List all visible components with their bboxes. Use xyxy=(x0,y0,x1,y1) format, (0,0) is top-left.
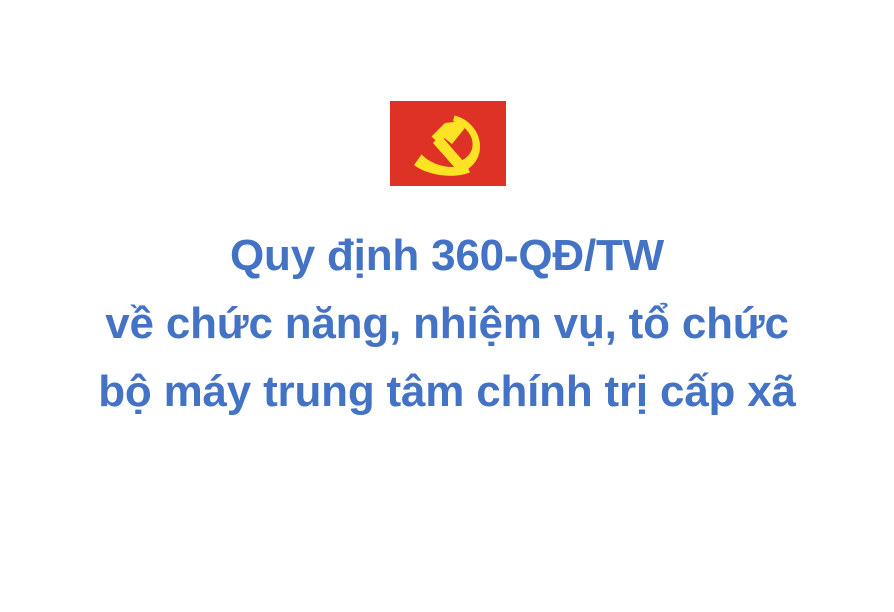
slide-canvas: Quy định 360-QĐ/TW về chức năng, nhiệm v… xyxy=(0,0,894,612)
title-line-2: về chức năng, nhiệm vụ, tổ chức xyxy=(0,290,894,358)
party-flag xyxy=(390,101,506,186)
party-flag-svg xyxy=(390,101,506,186)
title-line-3: bộ máy trung tâm chính trị cấp xã xyxy=(0,358,894,426)
title-block: Quy định 360-QĐ/TW về chức năng, nhiệm v… xyxy=(0,222,894,426)
title-line-1: Quy định 360-QĐ/TW xyxy=(0,222,894,290)
